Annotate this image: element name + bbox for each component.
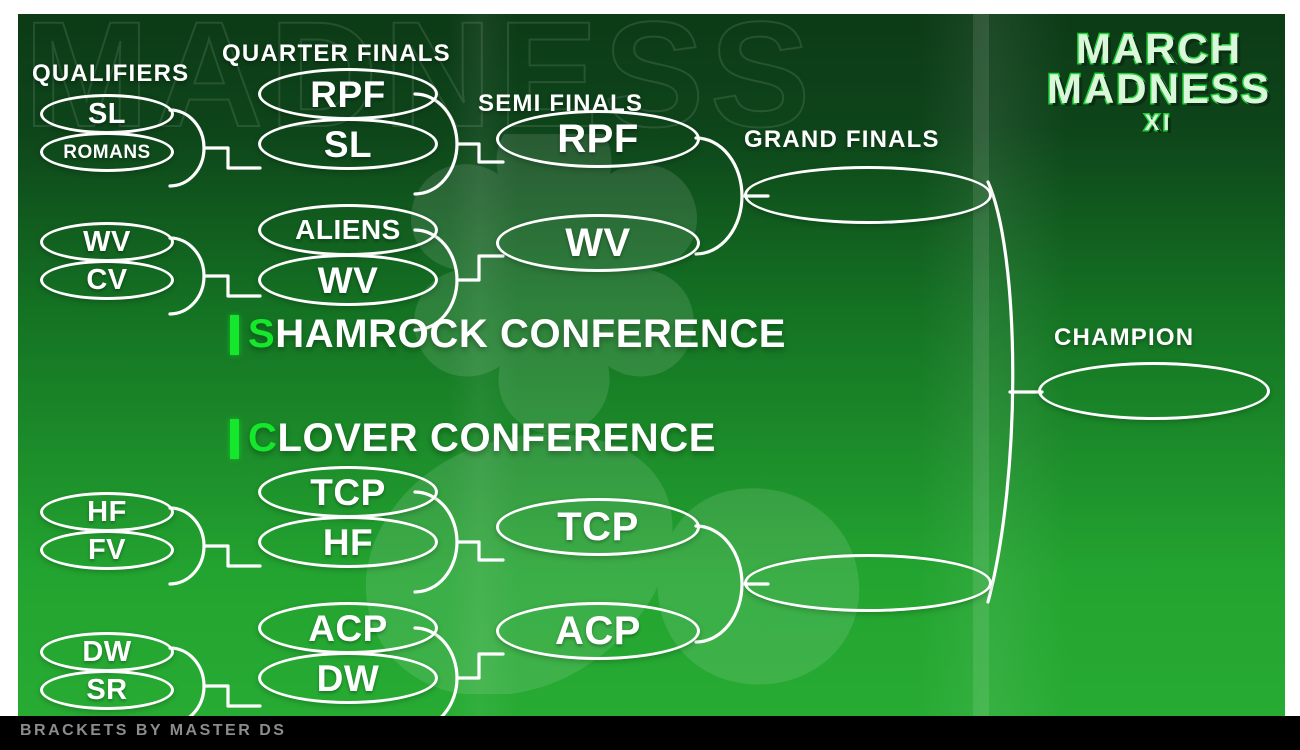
background-light-band-3: [973, 14, 989, 716]
conference-rest: LOVER CONFERENCE: [278, 416, 717, 460]
team-label: SR: [86, 676, 127, 705]
team-label: HF: [87, 498, 127, 527]
footer-credit: BRACKETS BY MASTER DS: [20, 722, 286, 740]
team-label: RPF: [310, 76, 386, 113]
quarter-final-slot-qf3-bottom[interactable]: HF: [258, 516, 438, 568]
quarter-final-slot-qf4-bottom[interactable]: DW: [258, 652, 438, 704]
qualifier-slot-q3-bottom[interactable]: FV: [40, 530, 174, 570]
logo-line-3: XI: [1047, 112, 1271, 134]
grand-final-slot-gf-bottom[interactable]: [744, 554, 992, 612]
conference-initial: S: [248, 312, 275, 356]
semi-final-slot-sf2-top[interactable]: TCP: [496, 498, 700, 556]
logo-line-2: MADNESS: [1047, 68, 1271, 110]
heading-qualifiers: QUALIFIERS: [32, 60, 189, 88]
conference-label-clover: CLOVER CONFERENCE: [230, 416, 716, 461]
march-madness-logo: MARCH MADNESS XI: [1047, 28, 1271, 134]
background-light-band-1: [448, 14, 518, 716]
quarter-final-slot-qf2-top[interactable]: ALIENS: [258, 204, 438, 256]
team-label: TCP: [557, 507, 639, 547]
conference-text: CLOVER CONFERENCE: [248, 416, 716, 461]
accent-bar-icon: [230, 419, 239, 459]
qualifier-slot-q1-bottom[interactable]: ROMANS: [40, 132, 174, 172]
team-label: WV: [318, 262, 379, 299]
champion-slot[interactable]: [1038, 362, 1270, 420]
qualifier-slot-q1-top[interactable]: SL: [40, 94, 174, 134]
team-label: ALIENS: [295, 216, 401, 244]
bracket-poster: MADNESS: [0, 0, 1300, 750]
team-label: SL: [324, 126, 372, 163]
team-label: RPF: [557, 119, 639, 159]
team-label: WV: [83, 228, 131, 257]
quarter-final-slot-qf1-bottom[interactable]: SL: [258, 118, 438, 170]
qualifier-slot-q3-top[interactable]: HF: [40, 492, 174, 532]
team-label: HF: [323, 524, 373, 561]
team-label: ACP: [308, 610, 388, 647]
qualifier-slot-q4-top[interactable]: DW: [40, 632, 174, 672]
heading-quarter-finals: QUARTER FINALS: [222, 40, 451, 68]
quarter-final-slot-qf1-top[interactable]: RPF: [258, 68, 438, 120]
quarter-final-slot-qf3-top[interactable]: TCP: [258, 466, 438, 518]
accent-bar-icon: [230, 315, 239, 355]
team-label: CV: [86, 266, 127, 295]
grand-final-slot-gf-top[interactable]: [744, 166, 992, 224]
qualifier-slot-q2-bottom[interactable]: CV: [40, 260, 174, 300]
quarter-final-slot-qf4-top[interactable]: ACP: [258, 602, 438, 654]
heading-champion: CHAMPION: [1054, 324, 1194, 352]
conference-label-shamrock: SHAMROCK CONFERENCE: [230, 312, 786, 357]
bracket-panel: MADNESS: [18, 14, 1285, 716]
conference-text: SHAMROCK CONFERENCE: [248, 312, 786, 357]
qualifier-slot-q4-bottom[interactable]: SR: [40, 670, 174, 710]
team-label: FV: [88, 536, 126, 565]
team-label: DW: [82, 638, 131, 667]
logo-line-1: MARCH: [1047, 28, 1271, 70]
team-label: SL: [88, 100, 126, 129]
team-label: TCP: [310, 474, 386, 511]
team-label: WV: [565, 223, 630, 263]
semi-final-slot-sf2-bottom[interactable]: ACP: [496, 602, 700, 660]
semi-final-slot-sf-top[interactable]: RPF: [496, 110, 700, 168]
heading-grand-finals: GRAND FINALS: [744, 126, 940, 154]
team-label: ACP: [555, 611, 641, 651]
semi-final-slot-sf-bottom[interactable]: WV: [496, 214, 700, 272]
qualifier-slot-q2-top[interactable]: WV: [40, 222, 174, 262]
team-label: DW: [317, 660, 380, 697]
team-label: ROMANS: [63, 143, 150, 162]
conference-initial: C: [248, 416, 278, 460]
conference-rest: HAMROCK CONFERENCE: [275, 312, 786, 356]
background-light-band-2: [918, 14, 1068, 716]
quarter-final-slot-qf2-bottom[interactable]: WV: [258, 254, 438, 306]
